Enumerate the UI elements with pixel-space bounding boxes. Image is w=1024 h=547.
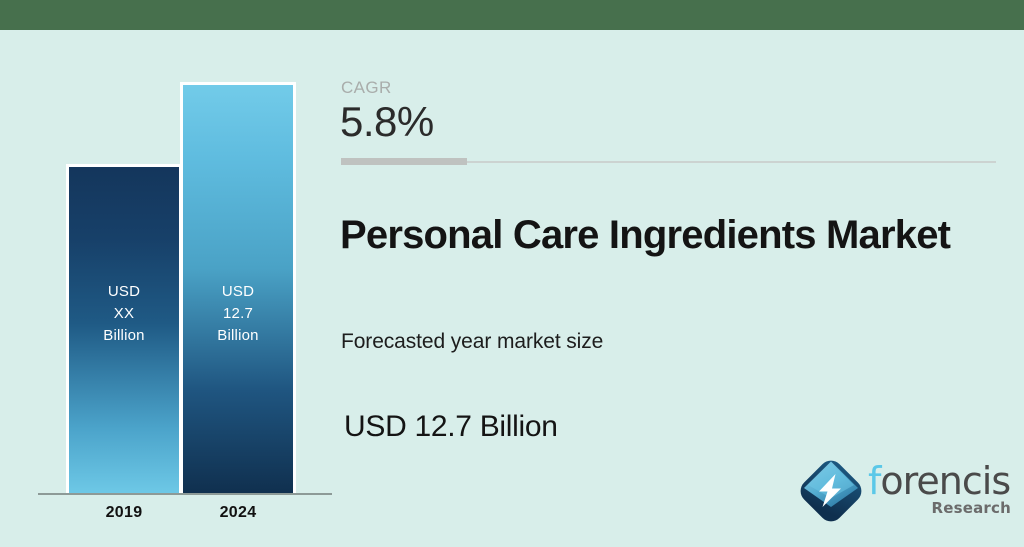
x-tick-2019: 2019 <box>59 504 189 522</box>
bar-2024-value-label: USD 12.7 Billion <box>183 281 293 347</box>
forencis-word-rest: orencis <box>880 459 1010 503</box>
infographic-root: USD XX Billion USD 12.7 Billion 2019 202… <box>0 0 1024 547</box>
bar-2019: USD XX Billion <box>66 164 182 493</box>
forecast-caption: Forecasted year market size <box>341 330 603 354</box>
forencis-wordmark: forencis Research <box>868 462 1013 517</box>
bar-2024-scale: Billion <box>183 325 293 347</box>
top-green-band <box>0 0 1024 30</box>
bar-2019-currency: USD <box>69 281 179 303</box>
cagr-label: CAGR <box>341 78 392 98</box>
bar-2019-value-label: USD XX Billion <box>69 281 179 347</box>
forencis-word: forencis <box>868 462 1013 500</box>
chart-baseline-axis <box>38 493 332 495</box>
forecast-value: USD 12.7 Billion <box>344 410 558 444</box>
progress-divider <box>341 158 996 165</box>
forencis-logo: forencis Research <box>800 448 1015 533</box>
bar-2024: USD 12.7 Billion <box>180 82 296 493</box>
cagr-value: 5.8% <box>340 98 434 146</box>
bar-chart: USD XX Billion USD 12.7 Billion 2019 202… <box>0 30 340 547</box>
bar-2019-scale: Billion <box>69 325 179 347</box>
x-tick-2024: 2024 <box>173 504 303 522</box>
bar-2024-amount: 12.7 <box>183 303 293 325</box>
bar-2024-currency: USD <box>183 281 293 303</box>
bar-2019-amount: XX <box>69 303 179 325</box>
content-panel: CAGR 5.8% Personal Care Ingredients Mark… <box>340 30 1024 547</box>
divider-fill <box>341 158 467 165</box>
page-title: Personal Care Ingredients Market <box>340 212 1000 258</box>
forencis-word-accent: f <box>868 459 880 503</box>
forencis-diamond-mark-icon <box>800 460 862 522</box>
